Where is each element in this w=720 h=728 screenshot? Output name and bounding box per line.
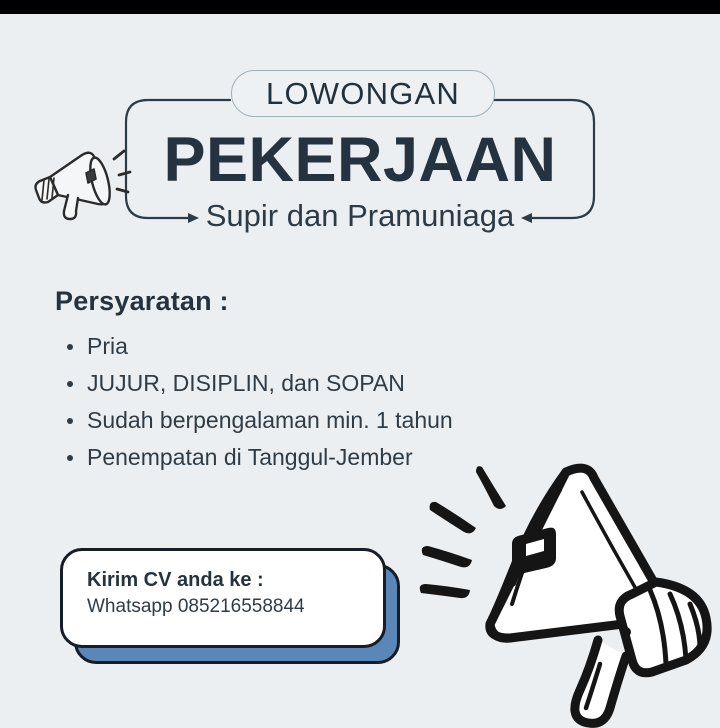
lowongan-badge: LOWONGAN [231,70,495,117]
contact-whatsapp-number[interactable]: Whatsapp 085216558844 [87,597,383,618]
header-block: LOWONGAN PEKERJAAN Supir dan Pramuniaga [0,14,720,254]
top-letterbox-bar [0,0,720,14]
requirements-heading: Persyaratan : [55,287,615,317]
lowongan-badge-label: LOWONGAN [266,78,460,109]
job-vacancy-poster: LOWONGAN PEKERJAAN Supir dan Pramuniaga … [0,0,720,728]
list-item: JUJUR, DISIPLIN, dan SOPAN [55,372,615,395]
list-item: Sudah berpengalaman min. 1 tahun [55,409,615,432]
megaphone-icon [414,432,720,728]
contact-title: Kirim CV anda ke : [87,569,383,591]
contact-box-card[interactable]: Kirim CV anda ke : Whatsapp 085216558844 [60,548,386,648]
list-item: Pria [55,335,615,358]
contact-box[interactable]: Kirim CV anda ke : Whatsapp 085216558844 [60,548,400,668]
page-subtitle: Supir dan Pramuniaga [0,200,720,231]
page-title: PEKERJAAN [0,129,720,192]
